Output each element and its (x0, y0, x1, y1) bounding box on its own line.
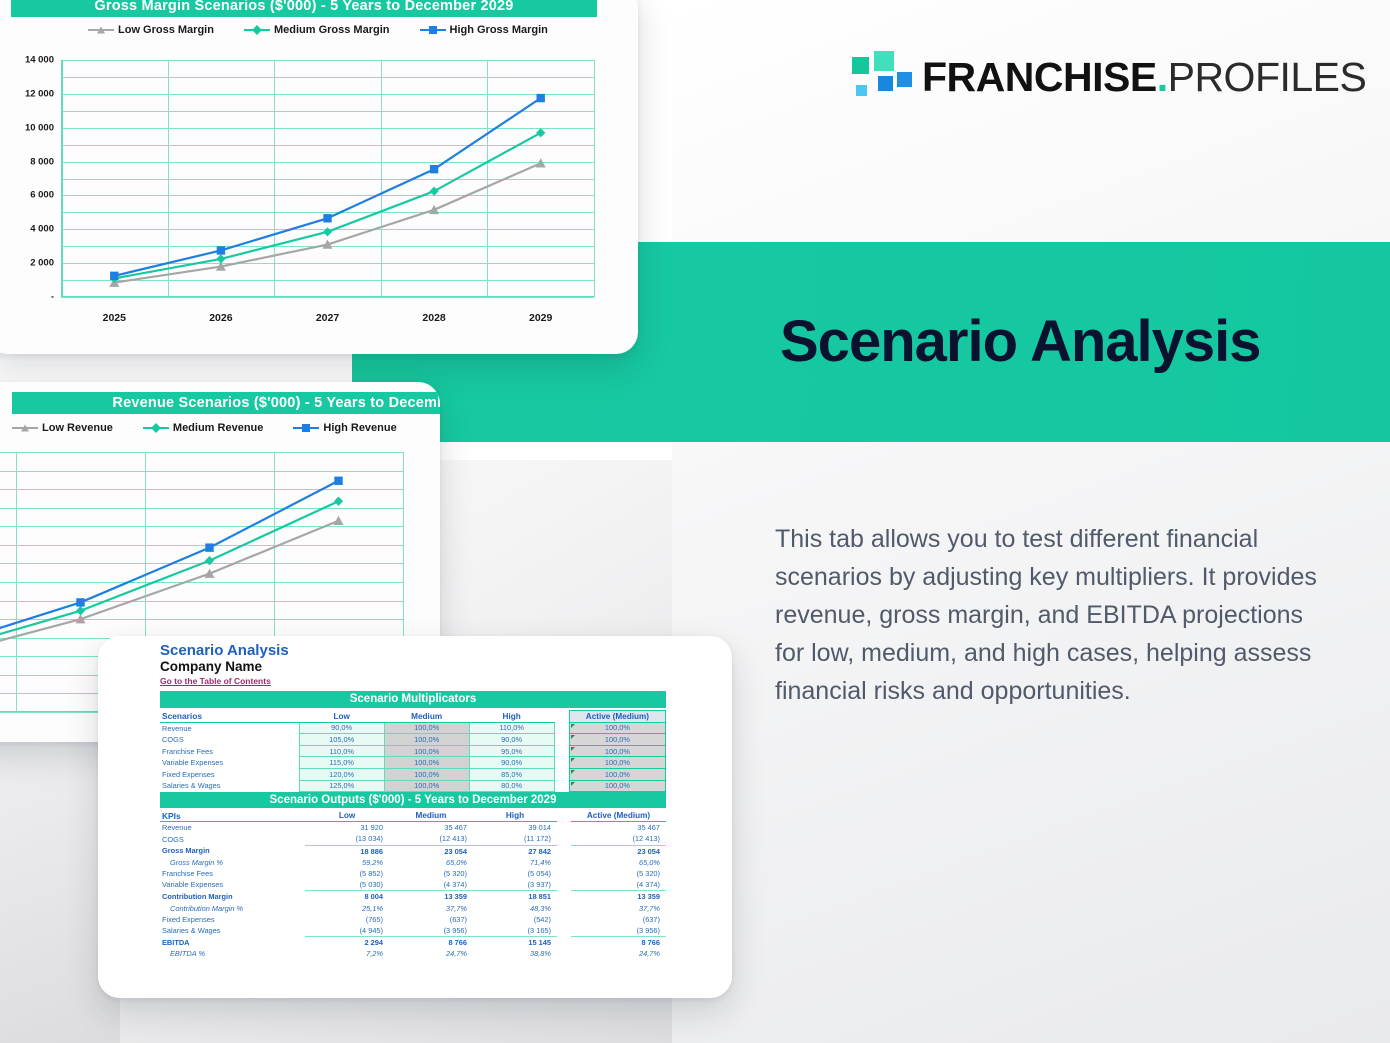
cell-medium: 23 054 (389, 845, 473, 857)
table-row: Contribution Margin %25,1%37,7%48,3%37,7… (160, 903, 666, 914)
logo-square-3 (878, 76, 893, 91)
row-label: Variable Expenses (160, 879, 305, 891)
data-point (536, 158, 546, 167)
cell-low: 25,1% (305, 903, 389, 914)
column-header-low: Low (305, 810, 389, 822)
chart-legend-gross-margin: Low Gross Margin Medium Gross Margin Hig… (88, 24, 548, 36)
cell-low[interactable]: 125,0% (299, 780, 384, 792)
triangle-marker-icon (21, 425, 29, 432)
spacer-cell (557, 833, 571, 845)
column-header-kpis: KPIs (160, 810, 305, 822)
plot-area-gross-margin (61, 60, 594, 297)
data-point (334, 516, 344, 525)
cell-low: 59,2% (305, 857, 389, 868)
spacer-cell (554, 711, 569, 723)
legend-line-medium (244, 29, 270, 32)
page-title: Scenario Analysis (780, 310, 1380, 390)
gridline-horizontal (61, 297, 594, 298)
row-label: EBITDA (160, 937, 305, 949)
table-row: Franchise Fees(5 852)(5 320)(5 054)(5 32… (160, 868, 666, 879)
spacer-cell (557, 879, 571, 891)
cell-medium[interactable]: 100,0% (384, 722, 469, 734)
cell-low: (4 945) (305, 925, 389, 937)
row-label: Franchise Fees (160, 868, 305, 879)
column-header-active: Active (Medium) (569, 711, 665, 723)
logo-word-dot: . (1157, 54, 1168, 100)
legend-line-high (293, 427, 319, 430)
row-label: EBITDA % (160, 948, 305, 959)
data-point (430, 165, 438, 173)
cell-medium: 37,7% (389, 903, 473, 914)
cell-low: 31 920 (305, 822, 389, 834)
cell-medium: 65,0% (389, 857, 473, 868)
cell-medium[interactable]: 100,0% (384, 768, 469, 780)
cell-high: (542) (473, 914, 557, 925)
legend-line-low (88, 29, 114, 32)
row-label: Salaries & Wages (160, 780, 299, 792)
y-axis-tick: 4 000 (30, 224, 54, 235)
cell-high[interactable]: 90,0% (469, 757, 554, 769)
cell-medium[interactable]: 100,0% (384, 780, 469, 792)
cell-active: 37,7% (571, 903, 666, 914)
cell-active: (3 956) (571, 925, 666, 937)
data-point (323, 227, 332, 236)
legend-label: High Revenue (323, 422, 396, 434)
legend-item-high-revenue: High Revenue (293, 422, 396, 434)
cell-medium: 8 766 (389, 937, 473, 949)
column-header-medium: Medium (389, 810, 473, 822)
data-point (334, 477, 342, 485)
table-row: EBITDA %7,2%24,7%38,8%24,7% (160, 948, 666, 959)
cell-high: (3 165) (473, 925, 557, 937)
page-description: This tab allows you to test different fi… (775, 520, 1320, 710)
cell-high: 71,4% (473, 857, 557, 868)
row-label: Variable Expenses (160, 757, 299, 769)
table-row: EBITDA2 2948 76615 1458 766 (160, 937, 666, 949)
scenario-analysis-sheet: Scenario Analysis Company Name Go to the… (98, 636, 732, 998)
data-point (76, 598, 84, 606)
table-row: Variable Expenses(5 030)(4 374)(3 937)(4… (160, 879, 666, 891)
data-point (110, 272, 118, 280)
data-point (334, 497, 343, 506)
square-marker-icon (302, 424, 310, 432)
chart-title-gross-margin: Gross Margin Scenarios ($'000) - 5 Years… (11, 0, 597, 17)
spacer-cell (554, 757, 569, 769)
table-row: Franchise Fees110,0%100,0%95,0%100,0% (160, 745, 666, 757)
legend-line-low (12, 427, 38, 430)
legend-label: Low Revenue (42, 422, 113, 434)
logo-word-light: PROFILES (1168, 54, 1367, 100)
cell-active[interactable]: 100,0% (569, 768, 665, 780)
x-axis-tick: 2027 (316, 312, 339, 324)
y-axis-labels-gross-margin: 14 00012 00010 0008 0006 0004 0002 000- (2, 60, 54, 297)
logo-squares-icon (852, 51, 904, 103)
spacer-cell (557, 810, 571, 822)
cell-high[interactable]: 90,0% (469, 734, 554, 746)
column-header-medium: Medium (384, 711, 469, 723)
logo-square-5 (856, 85, 867, 96)
cell-active[interactable]: 100,0% (569, 734, 665, 746)
column-header-high: High (473, 810, 557, 822)
cell-medium: 24,7% (389, 948, 473, 959)
cell-low: 2 294 (305, 937, 389, 949)
diamond-marker-icon (151, 423, 161, 433)
cell-low: (5 030) (305, 879, 389, 891)
logo-square-4 (897, 72, 912, 87)
spacer-cell (557, 891, 571, 903)
data-point (537, 94, 545, 102)
table-row: COGS(13 034)(12 413)(11 172)(12 413) (160, 833, 666, 845)
table-row: Revenue31 92035 46739 01435 467 (160, 822, 666, 834)
cell-active: (4 374) (571, 879, 666, 891)
cell-high: 27 842 (473, 845, 557, 857)
cell-active: (637) (571, 914, 666, 925)
brand-logo: FRANCHISE.PROFILES (852, 46, 1352, 108)
cell-active: 23 054 (571, 845, 666, 857)
spacer-cell (554, 734, 569, 746)
y-axis-tick: 2 000 (30, 258, 54, 269)
y-axis-tick: 14 000 (25, 55, 54, 66)
cell-low: 8 004 (305, 891, 389, 903)
y-axis-tick: 10 000 (25, 122, 54, 133)
column-header-low: Low (299, 711, 384, 723)
spacer-cell (557, 857, 571, 868)
table-of-contents-link[interactable]: Go to the Table of Contents (160, 675, 289, 687)
square-marker-icon (429, 26, 437, 34)
cell-active: (5 320) (571, 868, 666, 879)
table-row: Gross Margin %59,2%65,0%71,4%65,0% (160, 857, 666, 868)
legend-item-medium-gross-margin: Medium Gross Margin (244, 24, 390, 36)
table-header-row: ScenariosLowMediumHighActive (Medium) (160, 711, 666, 723)
chart-card-gross-margin: Gross Margin Scenarios ($'000) - 5 Years… (0, 0, 638, 354)
cell-medium: 13 359 (389, 891, 473, 903)
cell-low: 7,2% (305, 948, 389, 959)
row-label: Revenue (160, 822, 305, 834)
cell-low[interactable]: 120,0% (299, 768, 384, 780)
cell-medium: (5 320) (389, 868, 473, 879)
legend-line-high (420, 29, 446, 32)
spacer-cell (554, 780, 569, 792)
cell-low[interactable]: 115,0% (299, 757, 384, 769)
row-label: Gross Margin (160, 845, 305, 857)
spacer-cell (557, 903, 571, 914)
cell-active[interactable]: 100,0% (569, 722, 665, 734)
spacer-cell (554, 722, 569, 734)
section-band-outputs: Scenario Outputs ($'000) - 5 Years to De… (160, 792, 666, 808)
cell-medium[interactable]: 100,0% (384, 745, 469, 757)
spacer-cell (557, 845, 571, 857)
table-row: Variable Expenses115,0%100,0%90,0%100,0% (160, 757, 666, 769)
row-label: Revenue (160, 722, 299, 734)
row-label: Contribution Margin (160, 891, 305, 903)
legend-label: Medium Revenue (173, 422, 263, 434)
data-point (216, 254, 225, 263)
cell-active[interactable]: 100,0% (569, 780, 665, 792)
slide-canvas: Gross Margin Scenarios ($'000) - 5 Years… (0, 0, 1390, 1043)
cell-high[interactable]: 80,0% (469, 780, 554, 792)
row-label: Salaries & Wages (160, 925, 305, 937)
cell-low[interactable]: 105,0% (299, 734, 384, 746)
cell-medium: (4 374) (389, 879, 473, 891)
gridline-vertical (594, 60, 595, 297)
cell-active[interactable]: 100,0% (569, 757, 665, 769)
row-label: Franchise Fees (160, 745, 299, 757)
table-row: Salaries & Wages(4 945)(3 956)(3 165)(3 … (160, 925, 666, 937)
legend-item-low-revenue: Low Revenue (12, 422, 113, 434)
table-row: Revenue90,0%100,0%110,0%100,0% (160, 722, 666, 734)
data-point (76, 606, 85, 615)
x-axis-tick: 2028 (422, 312, 445, 324)
logo-square-2 (874, 51, 894, 71)
gross-margin-chart: Gross Margin Scenarios ($'000) - 5 Years… (0, 0, 638, 354)
row-label: Gross Margin % (160, 857, 305, 868)
column-header-active: Active (Medium) (571, 810, 666, 822)
cell-medium[interactable]: 100,0% (384, 734, 469, 746)
spreadsheet-card: Scenario Analysis Company Name Go to the… (98, 636, 732, 998)
row-label: Fixed Expenses (160, 768, 299, 780)
row-label: COGS (160, 734, 299, 746)
y-axis-tick: - (51, 292, 54, 303)
legend-label: Low Gross Margin (118, 24, 214, 36)
spacer-cell (557, 868, 571, 879)
series-line-0 (114, 163, 540, 282)
data-point (536, 128, 545, 137)
y-axis-tick: 6 000 (30, 190, 54, 201)
spacer-cell (557, 822, 571, 834)
cell-low[interactable]: 110,0% (299, 745, 384, 757)
cell-low[interactable]: 90,0% (299, 722, 384, 734)
cell-active: 24,7% (571, 948, 666, 959)
spacer-cell (554, 768, 569, 780)
spacer-cell (554, 745, 569, 757)
cell-high: 15 145 (473, 937, 557, 949)
legend-item-medium-revenue: Medium Revenue (143, 422, 263, 434)
data-point (205, 543, 213, 551)
logo-word-bold: FRANCHISE (922, 54, 1157, 100)
triangle-marker-icon (97, 27, 105, 34)
cell-medium: (12 413) (389, 833, 473, 845)
cell-high: (5 054) (473, 868, 557, 879)
row-label: Fixed Expenses (160, 914, 305, 925)
cell-low: (13 034) (305, 833, 389, 845)
spacer-cell (557, 948, 571, 959)
cell-high[interactable]: 110,0% (469, 722, 554, 734)
row-label: Contribution Margin % (160, 903, 305, 914)
chart-legend-revenue: Low Revenue Medium Revenue High Revenue (12, 422, 397, 434)
cell-medium: 35 467 (389, 822, 473, 834)
section-band-multiplicators: Scenario Multiplicators (160, 691, 666, 708)
sheet-title: Scenario Analysis (160, 642, 289, 659)
cell-medium: (637) (389, 914, 473, 925)
legend-item-low-gross-margin: Low Gross Margin (88, 24, 214, 36)
cell-active: 13 359 (571, 891, 666, 903)
table-row: COGS105,0%100,0%90,0%100,0% (160, 734, 666, 746)
cell-high: 38,8% (473, 948, 557, 959)
cell-low: (765) (305, 914, 389, 925)
cell-active: 8 766 (571, 937, 666, 949)
cell-high[interactable]: 85,0% (469, 768, 554, 780)
x-axis-tick: 2029 (529, 312, 552, 324)
table-scenario-outputs: KPIsLowMediumHighActive (Medium)Revenue3… (160, 810, 666, 959)
data-point (430, 187, 439, 196)
cell-high: (3 937) (473, 879, 557, 891)
sheet-company: Company Name (160, 659, 289, 675)
legend-label: Medium Gross Margin (274, 24, 390, 36)
series-line-2 (114, 98, 540, 276)
cell-high: 48,3% (473, 903, 557, 914)
y-axis-tick: 12 000 (25, 88, 54, 99)
table-row: Salaries & Wages125,0%100,0%80,0%100,0% (160, 780, 666, 792)
logo-square-1 (852, 57, 869, 74)
cell-active: (12 413) (571, 833, 666, 845)
logo-wordmark: FRANCHISE.PROFILES (922, 55, 1366, 99)
table-row: Gross Margin18 88623 05427 84223 054 (160, 845, 666, 857)
series-layer (61, 60, 594, 297)
y-axis-tick: 8 000 (30, 156, 54, 167)
legend-line-medium (143, 427, 169, 430)
chart-title-revenue: Revenue Scenarios ($'000) - 5 Years to D… (12, 392, 440, 414)
cell-high: 18 851 (473, 891, 557, 903)
sheet-header: Scenario Analysis Company Name Go to the… (160, 642, 289, 687)
table-header-row: KPIsLowMediumHighActive (Medium) (160, 810, 666, 822)
cell-high[interactable]: 95,0% (469, 745, 554, 757)
cell-low: (5 852) (305, 868, 389, 879)
cell-low: 18 886 (305, 845, 389, 857)
cell-medium: (3 956) (389, 925, 473, 937)
cell-active: 65,0% (571, 857, 666, 868)
data-point (217, 246, 225, 254)
data-point (205, 556, 214, 565)
spacer-cell (557, 925, 571, 937)
table-row: Fixed Expenses(765)(637)(542)(637) (160, 914, 666, 925)
legend-label: High Gross Margin (450, 24, 548, 36)
spacer-cell (557, 914, 571, 925)
diamond-marker-icon (252, 25, 262, 35)
column-header-high: High (469, 711, 554, 723)
table-row: Fixed Expenses120,0%100,0%85,0%100,0% (160, 768, 666, 780)
table-row: Contribution Margin8 00413 35918 85113 3… (160, 891, 666, 903)
row-label: COGS (160, 833, 305, 845)
cell-high: 39 014 (473, 822, 557, 834)
x-axis-tick: 2025 (103, 312, 126, 324)
series-line-1 (114, 133, 540, 279)
column-header-scenarios: Scenarios (160, 711, 299, 723)
x-axis-tick: 2026 (209, 312, 232, 324)
x-axis-labels-gross-margin: 20252026202720282029 (61, 312, 594, 328)
cell-active[interactable]: 100,0% (569, 745, 665, 757)
cell-medium[interactable]: 100,0% (384, 757, 469, 769)
cell-high: (11 172) (473, 833, 557, 845)
legend-item-high-gross-margin: High Gross Margin (420, 24, 548, 36)
data-point (323, 214, 331, 222)
cell-active: 35 467 (571, 822, 666, 834)
spacer-cell (557, 937, 571, 949)
table-scenario-multiplicators: ScenariosLowMediumHighActive (Medium)Rev… (160, 710, 666, 792)
